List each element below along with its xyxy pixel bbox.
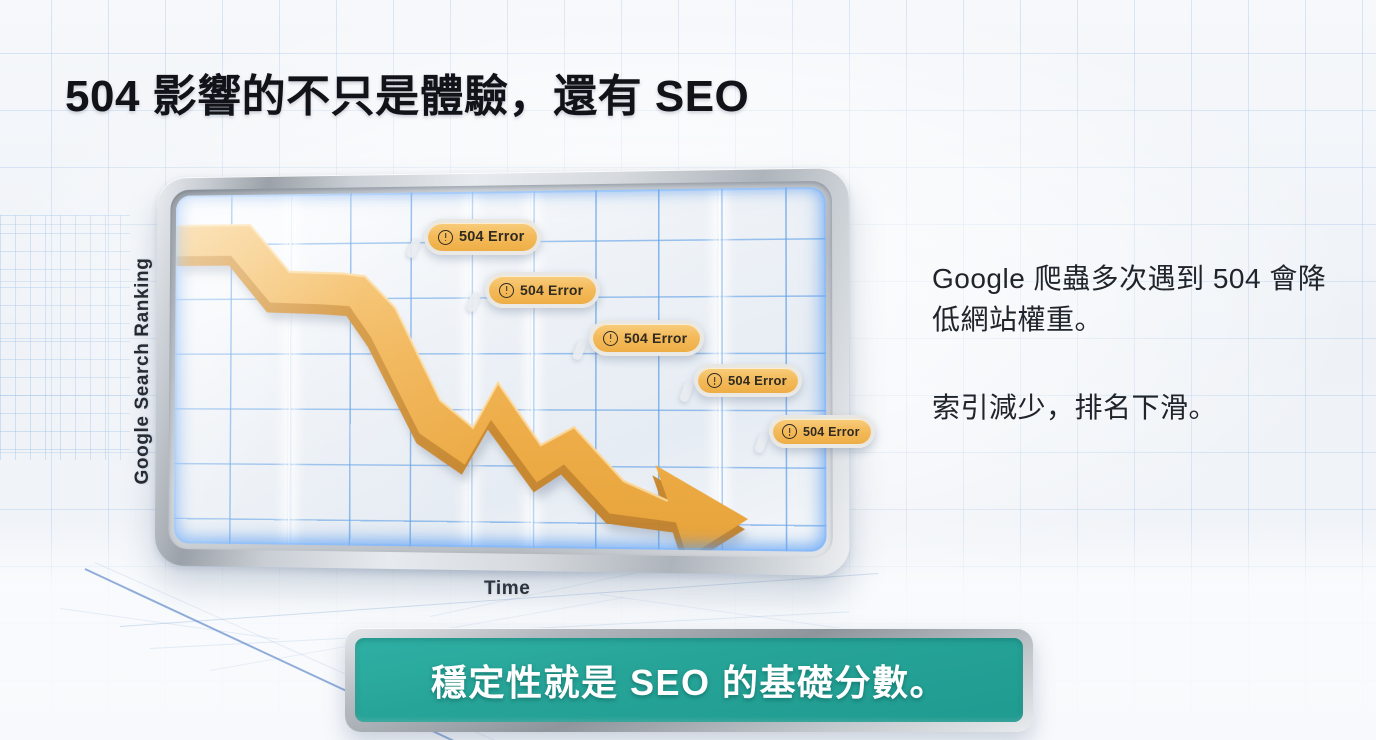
error-badge-label: 504 Error bbox=[624, 330, 687, 346]
side-copy: Google 爬蟲多次遇到 504 會降低網站權重。 索引減少，排名下滑。 bbox=[932, 258, 1332, 428]
error-badge-label: 504 Error bbox=[459, 229, 524, 245]
warning-circle-icon bbox=[707, 373, 722, 388]
warning-circle-icon bbox=[782, 424, 797, 439]
page-title: 504 影響的不只是體驗，還有 SEO bbox=[65, 60, 749, 124]
warning-circle-icon bbox=[438, 230, 453, 245]
warning-circle-icon bbox=[603, 331, 618, 346]
bottom-banner-inner: 穩定性就是 SEO 的基礎分數。 bbox=[355, 638, 1023, 722]
error-badge-label: 504 Error bbox=[520, 282, 583, 298]
error-badge-label: 504 Error bbox=[803, 425, 860, 439]
side-copy-paragraph-2: 索引減少，排名下滑。 bbox=[932, 387, 1332, 428]
error-badge-1[interactable]: 504 Error bbox=[424, 219, 541, 255]
error-badge-5[interactable]: 504 Error bbox=[769, 415, 875, 448]
bottom-banner: 穩定性就是 SEO 的基礎分數。 bbox=[345, 628, 1033, 732]
error-badge-label: 504 Error bbox=[728, 373, 787, 388]
error-badge-3[interactable]: 504 Error bbox=[589, 320, 704, 356]
warning-circle-icon bbox=[499, 283, 514, 298]
error-badge-2[interactable]: 504 Error bbox=[485, 272, 600, 308]
error-badge-4[interactable]: 504 Error bbox=[694, 364, 802, 397]
bottom-banner-text: 穩定性就是 SEO 的基礎分數。 bbox=[431, 654, 947, 706]
side-copy-paragraph-1: Google 爬蟲多次遇到 504 會降低網站權重。 bbox=[932, 258, 1332, 341]
